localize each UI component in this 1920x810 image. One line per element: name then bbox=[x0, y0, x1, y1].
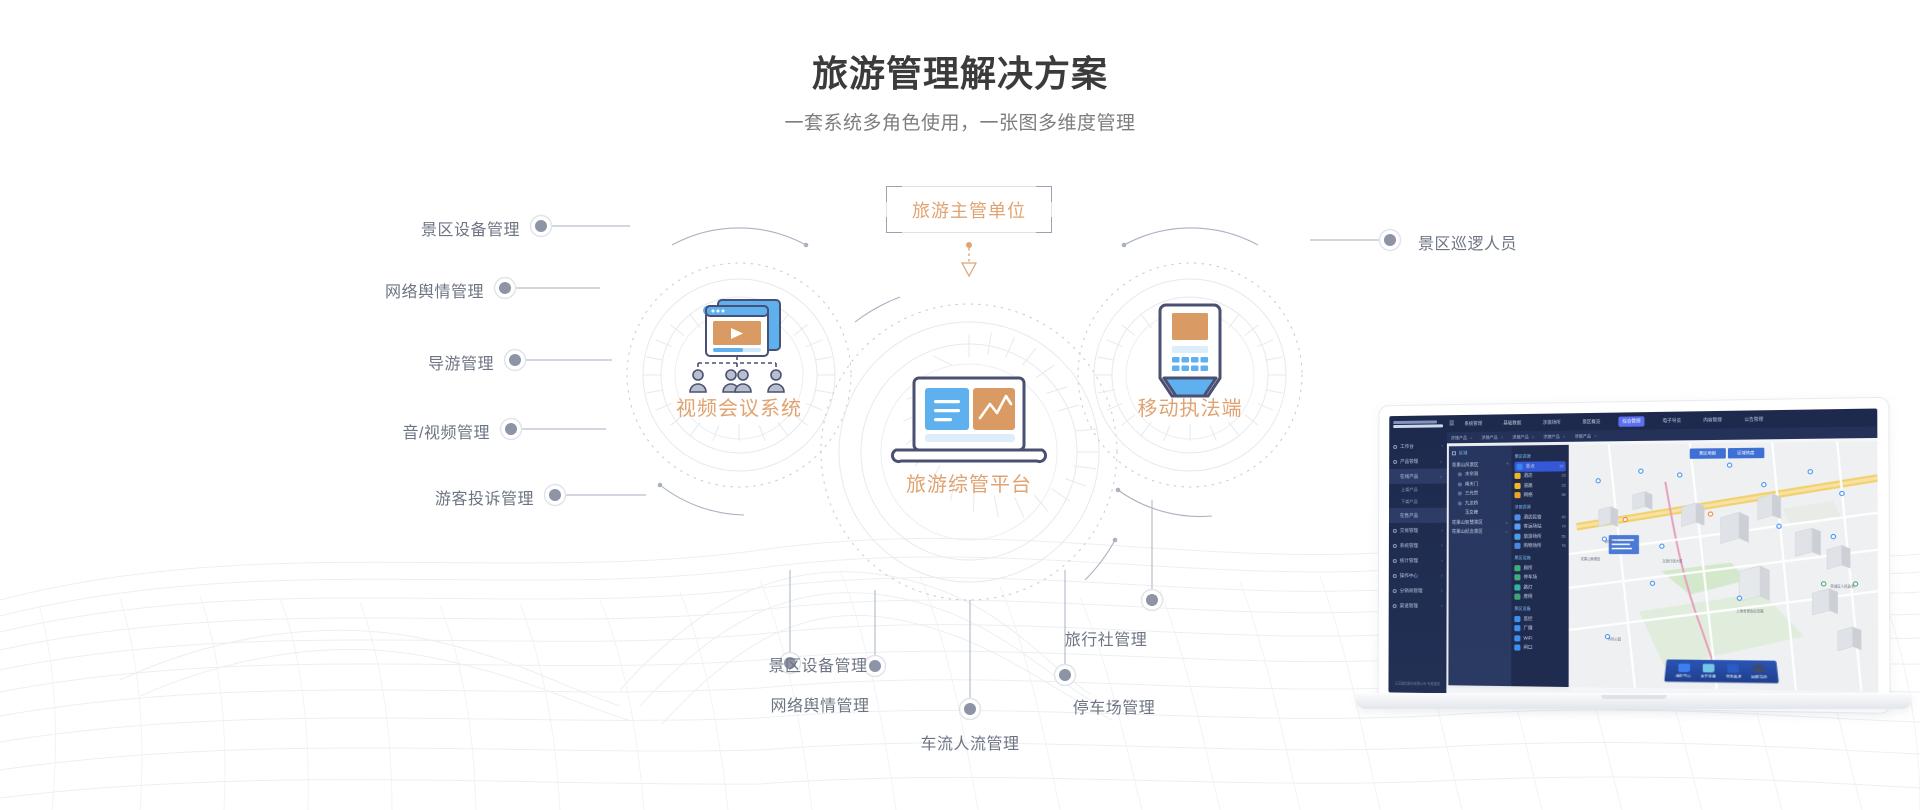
leaf-label-av-mgmt[interactable]: 音/视频管理 bbox=[180, 419, 490, 443]
sidebar-label-5: 在售产品 bbox=[1400, 512, 1418, 518]
tab-label-4: 涉旅产品 bbox=[1575, 433, 1592, 439]
chevron-right-icon-11: › bbox=[1441, 603, 1443, 608]
sidebar-label-7: 系统管理 bbox=[1400, 542, 1418, 548]
tab-chip-3[interactable]: 涉旅产品 ○ bbox=[1543, 433, 1565, 439]
leaf-label-scenic-device-mgmt[interactable]: 景区设备管理 bbox=[210, 216, 520, 240]
node-label-video-conference: 视频会议系统 bbox=[639, 392, 839, 421]
region-tree-title: 区域 bbox=[1459, 450, 1467, 456]
laptop-dashboard-icon bbox=[892, 378, 1045, 462]
tree-label-5: 玉女峰 bbox=[1465, 510, 1478, 516]
sidebar-item-transaction-mgmt[interactable]: 交易管理 › bbox=[1389, 523, 1447, 538]
tree-label-1: 水帘洞 bbox=[1465, 471, 1478, 477]
box-edge-left bbox=[886, 202, 887, 217]
legend-label-0-2: 道路 bbox=[1524, 483, 1533, 489]
channel-icon bbox=[1393, 604, 1397, 608]
legend-count-0-0: 23 bbox=[1559, 464, 1563, 468]
legend-item-3-2[interactable]: WiFi bbox=[1514, 633, 1565, 643]
sidebar-item-product-mgmt[interactable]: 产品管理 ⌄ bbox=[1389, 453, 1447, 469]
legend-icon-3-0 bbox=[1514, 616, 1520, 622]
legend-item-1-0[interactable]: 酒店民宿 45 bbox=[1514, 512, 1565, 522]
tree-node-0[interactable]: 花果山风景区 ^ bbox=[1452, 460, 1509, 470]
map-view-toggle[interactable]: 景区地图 区域热度 bbox=[1690, 448, 1765, 459]
tree-bullet-2 bbox=[1458, 482, 1462, 486]
legend-label-1-2: 旅游场所 bbox=[1524, 533, 1542, 539]
legend-icon-0-1 bbox=[1514, 473, 1520, 479]
legend-count-1-1: 79 bbox=[1562, 525, 1566, 529]
node-label-mobile-enforcement: 移动执法端 bbox=[1100, 392, 1280, 421]
legend-label-0-0: 景点 bbox=[1526, 463, 1535, 469]
chevron-right-icon-9: › bbox=[1441, 573, 1443, 578]
app-sidebar: 工作台 › 产品管理 ⌄ 在线产品 ⌄ 上架产品 bbox=[1388, 432, 1447, 693]
legend-item-3-3[interactable]: 闸口 bbox=[1514, 643, 1565, 653]
legend-count-0-2: 23 bbox=[1562, 483, 1566, 487]
tab-close-icon-3[interactable]: ○ bbox=[1563, 434, 1565, 439]
legend-icon-1-1 bbox=[1514, 524, 1520, 530]
left-connectors bbox=[495, 216, 647, 506]
box-edge-right bbox=[1051, 202, 1052, 217]
legend-label-2-1: 停车场 bbox=[1524, 575, 1537, 581]
legend-item-2-3[interactable]: 座椅 bbox=[1514, 592, 1565, 602]
sidebar-label-9: 操作中心 bbox=[1400, 573, 1418, 579]
tree-bullet-1 bbox=[1458, 473, 1462, 477]
tab-label-3: 涉旅产品 bbox=[1543, 433, 1559, 439]
legend-group-title-1: 涉旅资源 bbox=[1514, 504, 1565, 510]
map-label-1: 文旅行政大厦 bbox=[1662, 558, 1682, 563]
legend-group-title-0: 景区资源 bbox=[1515, 453, 1566, 460]
tree-bullet-4 bbox=[1458, 501, 1462, 505]
sidebar-label-4: 下架产品 bbox=[1401, 499, 1418, 505]
tree-node-6[interactable]: 花果山智慧景区 ⌄ bbox=[1452, 517, 1509, 527]
transaction-icon bbox=[1393, 528, 1397, 532]
tree-node-5[interactable]: 玉女峰 bbox=[1452, 508, 1509, 518]
legend-icon-2-0 bbox=[1514, 565, 1520, 571]
map-pill-1[interactable]: 区域热度 bbox=[1728, 448, 1764, 459]
governing-unit-label: 旅游主管单位 bbox=[912, 197, 1026, 223]
workbench-icon bbox=[1393, 444, 1397, 448]
corner-bracket-bottom-left bbox=[886, 217, 902, 233]
legend-label-3-3: 闸口 bbox=[1523, 645, 1532, 651]
legend-group-title-2: 景区设施 bbox=[1514, 555, 1565, 561]
leaf-label-parking-mgmt[interactable]: 停车场管理 bbox=[1024, 694, 1204, 718]
tab-chip-4[interactable]: 涉旅产品 ○ bbox=[1575, 433, 1597, 439]
leaf-label-traffic-flow-mgmt[interactable]: 车流人流管理 bbox=[880, 730, 1060, 754]
nav-item-2[interactable]: 涉旅场所 bbox=[1539, 417, 1565, 428]
nav-item-1[interactable]: 基础数据 bbox=[1499, 418, 1525, 428]
nav-item-4-active[interactable]: 综合管理 bbox=[1618, 416, 1645, 427]
legend-count-1-2: 55 bbox=[1562, 534, 1566, 538]
legend-count-1-0: 45 bbox=[1562, 515, 1566, 519]
dock-item-0[interactable]: 通知中心 bbox=[1675, 663, 1691, 679]
dock-icon-1 bbox=[1703, 664, 1715, 673]
dock-item-3[interactable]: 舆情监测 bbox=[1750, 664, 1767, 680]
legend-label-2-0: 厕所 bbox=[1524, 565, 1533, 571]
dock-icon-2 bbox=[1727, 664, 1739, 673]
dock-label-2: 应急管理 bbox=[1726, 674, 1742, 679]
page-title: 旅游管理解决方案 bbox=[0, 45, 1920, 97]
legend-icon-1-3 bbox=[1514, 543, 1520, 549]
legend-icon-0-3 bbox=[1514, 492, 1520, 498]
legend-label-1-1: 客运场站 bbox=[1524, 524, 1542, 530]
tree-bullet-3 bbox=[1458, 492, 1462, 496]
corner-bracket-top-right bbox=[1036, 186, 1052, 202]
sidebar-label-11: 渠道管理 bbox=[1400, 603, 1418, 609]
chevron-right-icon-7: › bbox=[1441, 543, 1443, 548]
chevron-down-icon-t6[interactable]: ⌄ bbox=[1505, 519, 1509, 525]
sidebar-label-10: 分销商管理 bbox=[1400, 588, 1423, 594]
dock-icon-0 bbox=[1678, 663, 1690, 672]
hamburger-icon[interactable]: ☰ bbox=[1449, 420, 1454, 427]
map-label-4: 市民公园 bbox=[1608, 636, 1621, 641]
map-poi-3[interactable] bbox=[1727, 463, 1732, 468]
node-label-tourism-platform: 旅游综管平台 bbox=[869, 468, 1069, 497]
map-canvas[interactable]: 景区地图 区域热度 bbox=[1569, 441, 1879, 691]
map-label-2: 游客中心 bbox=[1605, 539, 1618, 544]
sidebar-item-ops-center[interactable]: 操作中心 › bbox=[1389, 568, 1447, 583]
legend-item-2-0[interactable]: 厕所 bbox=[1514, 563, 1565, 573]
sidebar-item-system-mgmt[interactable]: 系统管理 › bbox=[1389, 538, 1447, 553]
map-poi-1[interactable] bbox=[1638, 468, 1643, 473]
map-poi-13[interactable] bbox=[1650, 580, 1655, 585]
legend-icon-2-3 bbox=[1514, 594, 1520, 600]
sidebar-item-statistics-mgmt[interactable]: 统计管理 › bbox=[1389, 553, 1447, 568]
legend-count-0-1: 23 bbox=[1562, 474, 1566, 478]
legend-item-3-0[interactable]: 监控 bbox=[1514, 614, 1565, 624]
tab-label-2: 涉旅产品 bbox=[1512, 434, 1528, 440]
laptop-base bbox=[1356, 693, 1912, 709]
legend-label-3-1: 广播 bbox=[1523, 625, 1532, 631]
dock-item-1[interactable]: 事件处置 bbox=[1700, 664, 1716, 680]
sidebar-item-workbench[interactable]: 工作台 › bbox=[1389, 438, 1447, 454]
legend-item-0-3[interactable]: 网络 56 bbox=[1514, 490, 1565, 500]
legend-label-1-0: 酒店民宿 bbox=[1524, 514, 1542, 520]
sidebar-label-0: 工作台 bbox=[1400, 443, 1414, 449]
box-edge-top bbox=[902, 186, 1036, 187]
leaf-label-scenic-device-mgmt-2[interactable]: 景区设备管理 bbox=[728, 652, 908, 676]
dock-label-3: 舆情监测 bbox=[1751, 675, 1767, 680]
legend-group-title-3: 景区设备 bbox=[1514, 606, 1565, 612]
tree-node-1[interactable]: 水帘洞 bbox=[1452, 469, 1509, 479]
legend-icon-1-2 bbox=[1514, 533, 1520, 539]
legend-item-1-2[interactable]: 旅游场所 55 bbox=[1514, 532, 1565, 542]
laptop-lid: ☰ 系统管理 基础数据 涉旅场所 景区概览 综合管理 电子导览 内容管理 公告管… bbox=[1378, 397, 1891, 714]
laptop-mockup: ☰ 系统管理 基础数据 涉旅场所 景区概览 综合管理 电子导览 内容管理 公告管… bbox=[1356, 405, 1916, 765]
map-poi-14[interactable] bbox=[1736, 596, 1741, 601]
legend-icon-1-0 bbox=[1514, 514, 1520, 520]
sidebar-label-8: 统计管理 bbox=[1400, 558, 1418, 564]
dock-item-2[interactable]: 应急管理 bbox=[1726, 664, 1742, 680]
sidebar-label-1: 产品管理 bbox=[1400, 458, 1418, 464]
video-window-icon bbox=[690, 300, 784, 392]
app-logo[interactable] bbox=[1389, 420, 1447, 428]
nav-item-6[interactable]: 内容管理 bbox=[1699, 414, 1726, 425]
governing-unit-box[interactable]: 旅游主管单位 bbox=[886, 186, 1052, 233]
dock-icon-3 bbox=[1752, 664, 1764, 673]
tab-close-icon-1[interactable]: ○ bbox=[1501, 435, 1503, 440]
chevron-down-icon-t7[interactable]: ⌄ bbox=[1505, 529, 1509, 535]
gov-to-hub-connector bbox=[962, 242, 976, 276]
page-subtitle: 一套系统多角色使用，一张图多维度管理 bbox=[0, 108, 1920, 135]
region-tree-header: 区域 bbox=[1452, 450, 1509, 457]
tab-label-0: 涉旅产品 bbox=[1451, 435, 1467, 441]
legend-icon-0-2 bbox=[1514, 483, 1520, 489]
legend-icon-3-3 bbox=[1514, 645, 1520, 651]
legend-count-0-3: 56 bbox=[1562, 493, 1566, 497]
chevron-down-icon-2: ⌄ bbox=[1439, 473, 1443, 479]
sidebar-label-2: 在线产品 bbox=[1400, 473, 1418, 479]
legend-count-1-3: 76 bbox=[1561, 544, 1565, 548]
legend-item-1-1[interactable]: 客运场站 79 bbox=[1514, 522, 1565, 532]
nav-item-0[interactable]: 系统管理 bbox=[1460, 418, 1486, 428]
legend-item-2-1[interactable]: 停车场 bbox=[1514, 573, 1565, 583]
right-connectors bbox=[1310, 230, 1401, 251]
ring-mobile-enforcement bbox=[1078, 228, 1302, 517]
corner-bracket-top-left bbox=[886, 186, 902, 202]
legend-icon-0-0 bbox=[1517, 463, 1523, 469]
map-control-panel: 区域 花果山风景区 ^ 水帘洞 南天门 bbox=[1448, 445, 1568, 687]
legend-icon-2-2 bbox=[1514, 584, 1520, 590]
app-nav-items: 系统管理 基础数据 涉旅场所 景区概览 综合管理 电子导览 内容管理 公告管理 bbox=[1460, 414, 1767, 429]
chevron-right-icon-6: › bbox=[1441, 528, 1443, 533]
logo-line-2 bbox=[1393, 424, 1443, 428]
nav-item-5[interactable]: 电子导览 bbox=[1658, 415, 1685, 426]
legend-label-2-3: 座椅 bbox=[1524, 594, 1533, 600]
legend-label-0-3: 网络 bbox=[1524, 492, 1533, 498]
tree-node-7[interactable]: 花果山纪念景区 ⌄ bbox=[1452, 527, 1509, 537]
dock-label-0: 通知中心 bbox=[1675, 674, 1691, 679]
chevron-right-icon-10: › bbox=[1441, 588, 1443, 593]
map-poi-15[interactable] bbox=[1821, 581, 1826, 586]
legend-icon-3-1 bbox=[1514, 625, 1520, 631]
leaf-label-travel-agency-mgmt[interactable]: 旅行社管理 bbox=[1016, 626, 1196, 650]
tab-chip-2[interactable]: 涉旅产品 ○ bbox=[1512, 434, 1534, 440]
legend-label-1-3: 购物场所 bbox=[1524, 543, 1542, 549]
legend-label-2-2: 路灯 bbox=[1524, 584, 1533, 590]
tree-label-6: 花果山智慧景区 bbox=[1452, 519, 1483, 525]
chevron-up-icon-t0[interactable]: ^ bbox=[1506, 462, 1508, 467]
chevron-down-icon-1: ⌄ bbox=[1439, 458, 1443, 464]
sidebar-item-unlisted-products[interactable]: 下架产品 bbox=[1389, 496, 1447, 508]
leaf-label-guide-mgmt[interactable]: 导游管理 bbox=[184, 350, 494, 374]
map-poi-12[interactable] bbox=[1830, 534, 1835, 539]
poster-root: 旅游管理解决方案 一套系统多角色使用，一张图多维度管理 旅游主管单位 bbox=[0, 0, 1920, 810]
legend-label-3-2: WiFi bbox=[1523, 636, 1532, 641]
map-label-3: 上海世博会纪念展 bbox=[1736, 608, 1763, 613]
map-label-5: 黄浦区人民政府 bbox=[1830, 583, 1854, 588]
sidebar-item-distributor-mgmt[interactable]: 分销商管理 › bbox=[1389, 583, 1447, 598]
ring-tourism-platform bbox=[821, 297, 1117, 600]
map-vector-layer bbox=[1569, 441, 1879, 691]
tab-chip-1[interactable]: 涉旅产品 ○ bbox=[1482, 434, 1504, 440]
tree-label-7: 花果山纪念景区 bbox=[1452, 529, 1483, 535]
tree-label-3: 三元宫 bbox=[1465, 491, 1478, 497]
leaf-label-network-opinion-mgmt-2[interactable]: 网络舆情管理 bbox=[730, 692, 910, 716]
tree-label-0: 花果山风景区 bbox=[1452, 462, 1479, 468]
map-label-0: 花果山管理处 bbox=[1581, 556, 1601, 561]
legend-label-3-0: 监控 bbox=[1523, 616, 1532, 622]
chevron-right-icon-0: › bbox=[1441, 443, 1443, 448]
legend-item-2-2[interactable]: 路灯 bbox=[1514, 582, 1565, 592]
sidebar-item-channel-mgmt[interactable]: 渠道管理 › bbox=[1389, 598, 1447, 613]
tree-node-3[interactable]: 三元宫 bbox=[1452, 489, 1509, 499]
laptop-screen: ☰ 系统管理 基础数据 涉旅场所 景区概览 综合管理 电子导览 内容管理 公告管… bbox=[1388, 408, 1878, 700]
map-pill-0[interactable]: 景区地图 bbox=[1690, 448, 1726, 459]
tab-chip-0[interactable]: 涉旅产品 ○ bbox=[1451, 434, 1473, 440]
system-icon bbox=[1393, 543, 1397, 547]
tree-label-2: 南天门 bbox=[1465, 481, 1478, 487]
sidebar-item-selling-products[interactable]: 在售产品 bbox=[1389, 508, 1447, 523]
dock-label-1: 事件处置 bbox=[1700, 674, 1716, 679]
ops-icon bbox=[1393, 574, 1397, 578]
legend-icon-3-2 bbox=[1514, 635, 1520, 641]
sidebar-footer: 江苏国信股份有限公司 专属提供 bbox=[1388, 682, 1446, 688]
legend-item-3-1[interactable]: 广播 bbox=[1514, 624, 1565, 634]
tab-close-icon-4[interactable]: ○ bbox=[1594, 433, 1597, 438]
sidebar-label-3: 上架产品 bbox=[1401, 487, 1418, 493]
person-icon bbox=[1393, 589, 1397, 593]
leaf-label-complaint-mgmt[interactable]: 游客投诉管理 bbox=[224, 485, 534, 509]
leaf-label-scenic-patrol-staff[interactable]: 景区巡逻人员 bbox=[1418, 230, 1517, 254]
sidebar-label-6: 交易管理 bbox=[1400, 527, 1418, 533]
sidebar-item-listed-products[interactable]: 上架产品 bbox=[1389, 484, 1447, 496]
legend-panel: 景区资源 景点 23 酒店 23 道路 bbox=[1511, 445, 1569, 687]
chevron-right-icon-8: › bbox=[1441, 558, 1443, 563]
legend-item-1-3[interactable]: 购物场所 76 bbox=[1514, 541, 1565, 551]
sidebar-item-online-products[interactable]: 在线产品 ⌄ bbox=[1389, 468, 1447, 484]
tab-close-icon-2[interactable]: ○ bbox=[1532, 434, 1534, 439]
nav-item-7[interactable]: 公告管理 bbox=[1740, 414, 1767, 425]
box-edge-bottom bbox=[902, 232, 1036, 233]
product-icon bbox=[1393, 459, 1397, 463]
bottom-connectors bbox=[780, 500, 1163, 720]
legend-item-0-0[interactable]: 景点 23 bbox=[1515, 461, 1566, 471]
corner-bracket-bottom-right bbox=[1036, 217, 1052, 233]
map-poi-4[interactable] bbox=[1761, 482, 1766, 487]
map-action-dock: 通知中心 事件处置 应急管理 舆情监测 bbox=[1664, 659, 1778, 683]
legend-item-0-1[interactable]: 酒店 23 bbox=[1514, 471, 1565, 481]
tree-node-2[interactable]: 南天门 bbox=[1452, 479, 1509, 489]
leaf-label-network-opinion-mgmt[interactable]: 网络舆情管理 bbox=[174, 278, 484, 302]
chart-icon bbox=[1393, 559, 1397, 563]
tree-node-4[interactable]: 九龙桥 bbox=[1452, 498, 1509, 508]
tab-close-icon-0[interactable]: ○ bbox=[1470, 435, 1472, 440]
legend-label-0-1: 酒店 bbox=[1524, 473, 1533, 479]
ring-video-conference bbox=[627, 228, 851, 515]
legend-icon-2-1 bbox=[1514, 575, 1520, 581]
handheld-device-icon bbox=[1160, 305, 1220, 396]
tab-label-1: 涉旅产品 bbox=[1482, 434, 1498, 440]
region-tree-panel: 区域 花果山风景区 ^ 水帘洞 南天门 bbox=[1448, 446, 1511, 687]
grid-icon bbox=[1452, 451, 1456, 455]
legend-item-0-2[interactable]: 道路 23 bbox=[1514, 481, 1565, 491]
tree-label-4: 九龙桥 bbox=[1465, 500, 1478, 506]
nav-item-3[interactable]: 景区概览 bbox=[1578, 416, 1604, 427]
